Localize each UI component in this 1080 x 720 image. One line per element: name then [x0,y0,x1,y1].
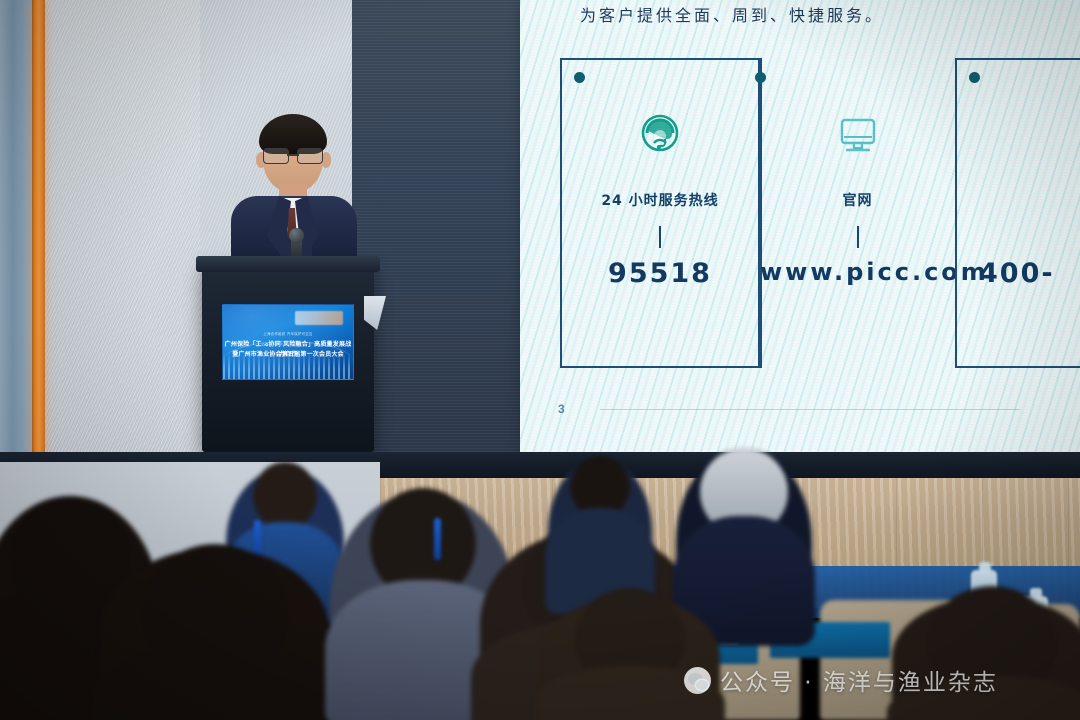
bullet-dot-icon [574,72,585,83]
audience-member [892,596,1080,720]
glasses-bridge [287,154,299,156]
podium-top-surface [196,256,380,272]
microphone-head [289,228,304,243]
headset-customer-service-icon [629,104,691,166]
column-border-box [955,58,1080,368]
led-presentation-screen: 为客户提供全面、周到、快捷服务。 24 小 [520,0,1080,452]
podium-screen-logo [295,311,343,325]
left-wall-edge [0,0,32,500]
column-value-hotline: 95518 [560,258,760,289]
orange-accent-strip [32,0,45,500]
podium: 上海合作组织 汽车保护可交互 广州保险「工ం协同·风险融合」高质量发展战力合作 … [202,262,374,452]
wechat-icon [684,667,711,694]
slide-column-partial: 400- [955,58,1080,368]
watermark-text: 公众号 · 海洋与渔业杂志 [720,663,998,697]
slide-bottom-rule [600,409,1020,410]
column-divider-line [760,58,762,368]
column-title-hotline: 24 小时服务热线 [560,190,760,210]
bullet-dot-icon [969,72,980,83]
audience-member [548,458,652,608]
podium-screen-subtitle: 上海合作组织 汽车保护可交互 [223,331,353,336]
lanyard [434,518,441,560]
column-value-website: www.picc.com [760,258,955,286]
column-value-partial: 400- [955,258,1080,289]
slide-page-number: 3 [558,402,565,416]
audience-member [540,596,720,720]
column-separator [659,226,661,248]
dark-navy-wall-panel [352,0,530,452]
podium-led-screen: 上海合作组织 汽车保护可交互 广州保险「工ం协同·风险融合」高质量发展战力合作 … [222,304,354,380]
column-separator [857,226,859,248]
screenshot-stage: 为客户提供全面、周到、快捷服务。 24 小 [0,0,1080,720]
speaker-figure [225,108,365,273]
slide-column-hotline: 24 小时服务热线 95518 [560,58,760,368]
audience-member [676,448,812,638]
monitor-website-icon [827,104,889,166]
watermark: 公众号 · 海洋与渔业杂志 [684,663,998,697]
column-title-website: 官网 [760,190,955,210]
audience-member [100,548,330,720]
slide-header-text: 为客户提供全面、周到、快捷服务。 [580,2,1000,26]
podium-screen-skyline-graphic [223,353,353,379]
bullet-dot-icon [755,72,766,83]
slide-column-website: 官网 www.picc.com [760,58,955,368]
slide-columns: 24 小时服务热线 95518 官网 www.pi [560,58,1080,388]
